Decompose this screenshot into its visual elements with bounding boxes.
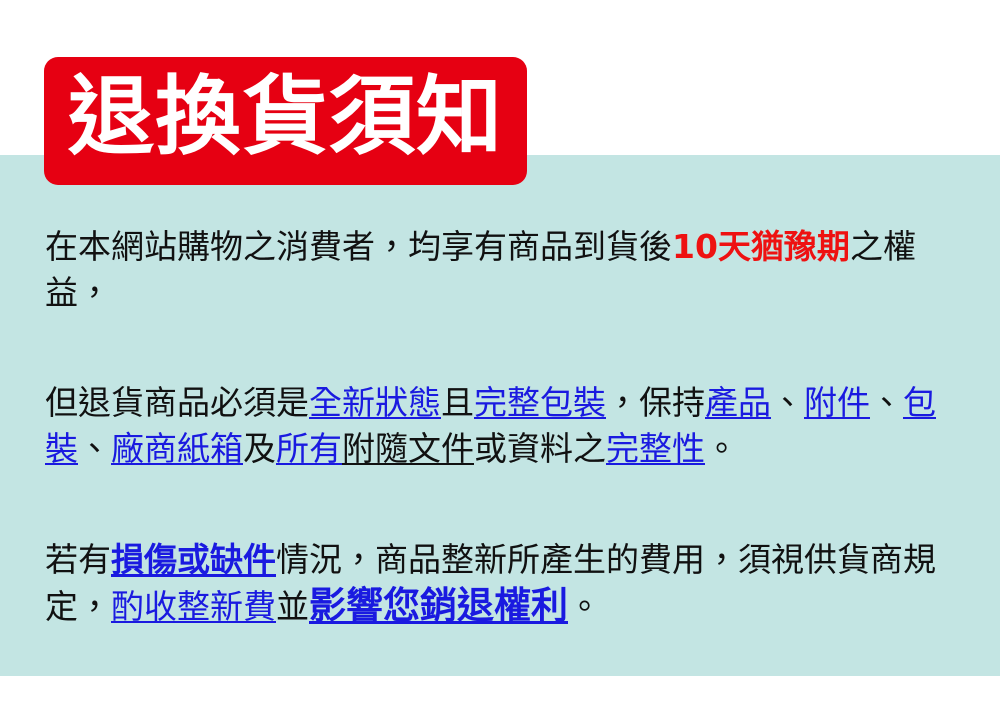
- text-run: 且: [441, 383, 474, 422]
- return-policy-notice: 退換貨須知 在本網站購物之消費者，均享有商品到貨後10天猶豫期之權益， 但退貨商…: [0, 0, 1000, 714]
- paragraph-return-condition: 但退貨商品必須是全新狀態且完整包裝，保持產品、附件、包裝、廠商紙箱及所有附隨文件…: [45, 380, 965, 472]
- page-title-badge: 退換貨須知: [44, 57, 527, 185]
- text-run: 但退貨商品必須是: [45, 383, 309, 422]
- text-run: 及: [243, 429, 276, 468]
- text-run: 、: [870, 383, 903, 422]
- link-emphasis-run[interactable]: 影響您銷退權利: [309, 584, 568, 627]
- link-run[interactable]: 完整性: [606, 429, 705, 468]
- link-run[interactable]: 產品: [705, 383, 771, 422]
- highlight-red-run: 10天猶豫期: [672, 227, 850, 266]
- text-run: 、: [771, 383, 804, 422]
- policy-body: 在本網站購物之消費者，均享有商品到貨後10天猶豫期之權益， 但退貨商品必須是全新…: [45, 224, 965, 630]
- text-run: 在本網站購物之消費者，均享有商品到貨後: [45, 227, 672, 266]
- text-run: 、: [78, 429, 111, 468]
- link-run[interactable]: 酌收整新費: [111, 587, 276, 626]
- link-run[interactable]: 附件: [804, 383, 870, 422]
- text-run: 或資料之: [474, 429, 606, 468]
- text-run: 若有: [45, 540, 111, 579]
- link-run[interactable]: 所有: [276, 429, 342, 468]
- paragraph-grace-period: 在本網站購物之消費者，均享有商品到貨後10天猶豫期之權益，: [45, 224, 965, 316]
- text-run: 。: [705, 429, 738, 468]
- text-run: 。: [568, 587, 601, 626]
- link-bold-run[interactable]: 損傷或缺件: [111, 540, 276, 579]
- underlined-text-run[interactable]: 附隨文件: [342, 429, 474, 468]
- link-run[interactable]: 完整包裝: [474, 383, 606, 422]
- text-run: ，保持: [606, 383, 705, 422]
- link-run[interactable]: 全新狀態: [309, 383, 441, 422]
- link-run[interactable]: 廠商紙箱: [111, 429, 243, 468]
- paragraph-damage-fee: 若有損傷或缺件情況，商品整新所產生的費用，須視供貨商規定，酌收整新費並影響您銷退…: [45, 537, 965, 630]
- page-title: 退換貨須知: [68, 74, 503, 160]
- text-run: 並: [276, 587, 309, 626]
